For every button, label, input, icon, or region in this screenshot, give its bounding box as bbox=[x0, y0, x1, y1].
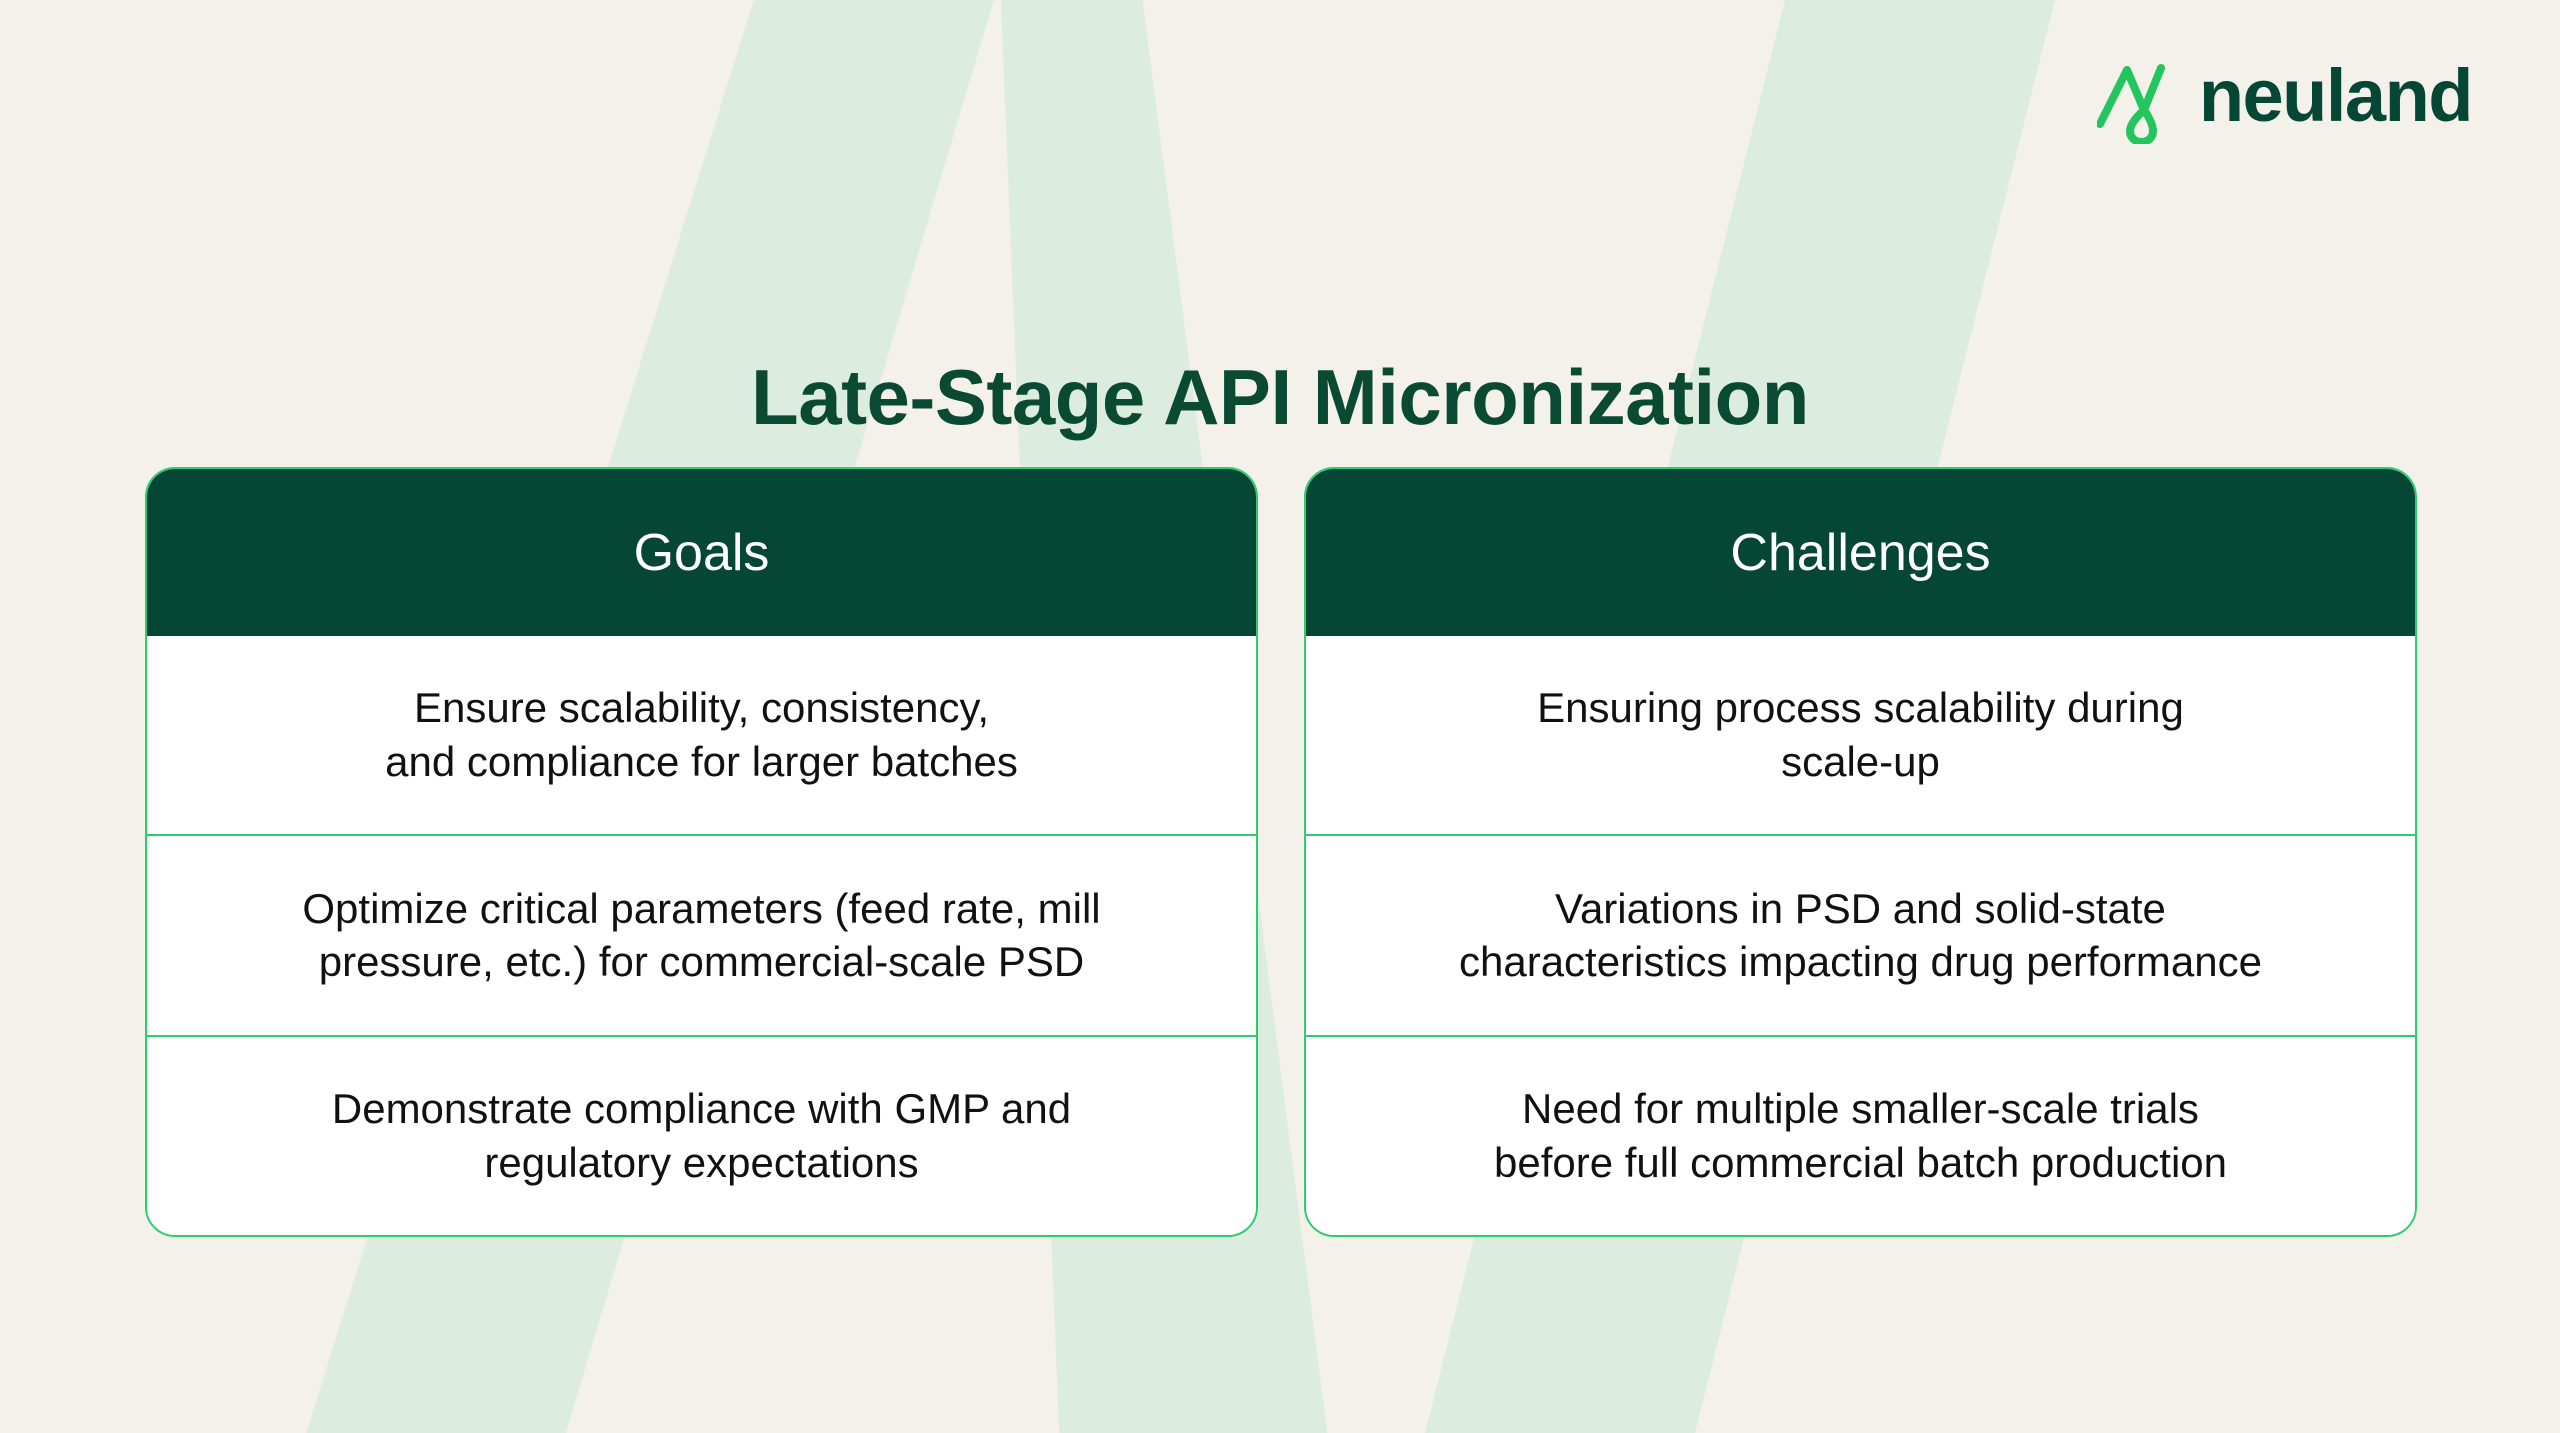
comparison-cards-container: Goals Ensure scalability, consistency, a… bbox=[145, 467, 2417, 1237]
card-goals-row-3: Demonstrate compliance with GMP and regu… bbox=[147, 1037, 1256, 1235]
card-challenges-body: Ensuring process scalability during scal… bbox=[1306, 636, 2415, 1235]
card-challenges-row-1: Ensuring process scalability during scal… bbox=[1306, 636, 2415, 836]
brand-logo: neuland bbox=[2097, 48, 2472, 144]
card-challenges-header: Challenges bbox=[1306, 469, 2415, 636]
card-goals-row-1: Ensure scalability, consistency, and com… bbox=[147, 636, 1256, 836]
card-challenges-row-3: Need for multiple smaller-scale trials b… bbox=[1306, 1037, 2415, 1235]
card-goals-row-2: Optimize critical parameters (feed rate,… bbox=[147, 836, 1256, 1036]
neuland-n-droplet-icon bbox=[2097, 48, 2181, 144]
card-goals: Goals Ensure scalability, consistency, a… bbox=[145, 467, 1258, 1237]
page-title: Late-Stage API Micronization bbox=[0, 352, 2560, 443]
card-challenges: Challenges Ensuring process scalability … bbox=[1304, 467, 2417, 1237]
card-goals-header: Goals bbox=[147, 469, 1256, 636]
card-challenges-row-2: Variations in PSD and solid-state charac… bbox=[1306, 836, 2415, 1036]
brand-wordmark: neuland bbox=[2199, 59, 2472, 133]
card-goals-body: Ensure scalability, consistency, and com… bbox=[147, 636, 1256, 1235]
